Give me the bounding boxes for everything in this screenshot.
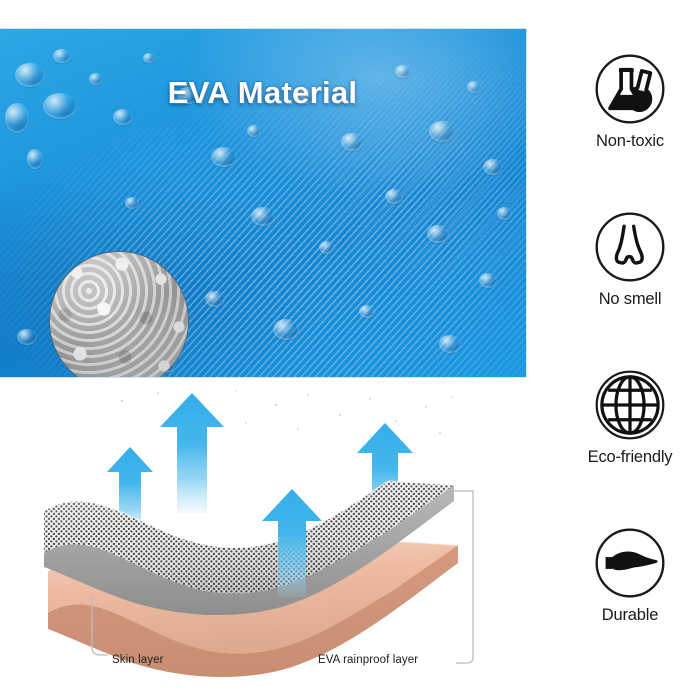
eva-material-banner: EVA Material	[0, 28, 527, 378]
hand-icon	[593, 526, 667, 600]
feature-item-non-toxic: Non-toxic	[560, 52, 700, 151]
fabric-diagram-svg	[40, 385, 500, 685]
infographic-page: EVA Material Non-toxic	[0, 0, 700, 700]
feature-item-no-smell: No smell	[560, 210, 700, 309]
feature-label: No smell	[560, 290, 700, 309]
eva-pellets-photo-inset	[49, 251, 189, 378]
leader-line-eva	[454, 491, 473, 663]
eva-pellets-shading	[50, 252, 188, 378]
arrow-up-large	[160, 393, 224, 513]
feature-item-durable: Durable	[560, 526, 700, 625]
fabric-layer-diagram	[40, 385, 500, 685]
globe-icon	[593, 368, 667, 442]
feature-label: Non-toxic	[560, 132, 700, 151]
feature-item-eco-friendly: Eco-friendly	[560, 368, 700, 467]
feature-list: Non-toxic No smell	[560, 40, 700, 640]
feature-label: Eco-friendly	[560, 448, 700, 467]
eva-rainproof-layer-label: EVA rainproof layer	[318, 654, 418, 666]
skin-layer-label: Skin layer	[112, 654, 164, 666]
banner-title: EVA Material	[0, 75, 527, 111]
feature-label: Durable	[560, 606, 700, 625]
nose-icon	[593, 210, 667, 284]
air-speckles	[121, 390, 453, 438]
flask-icon	[593, 52, 667, 126]
